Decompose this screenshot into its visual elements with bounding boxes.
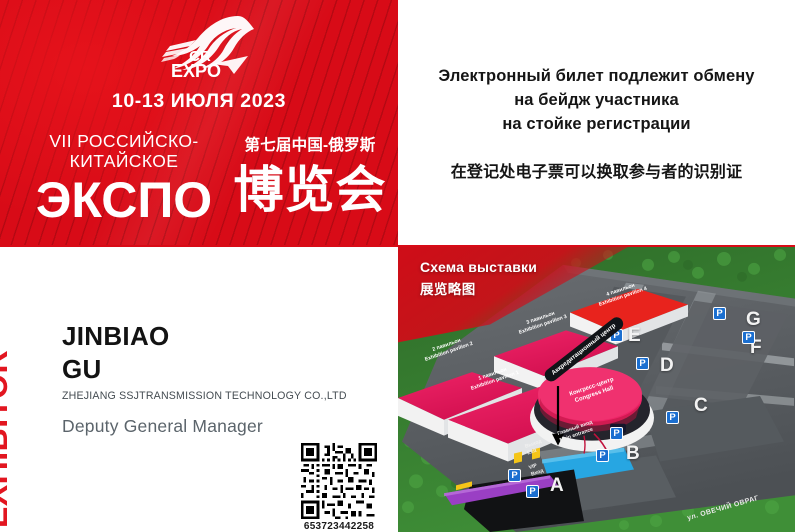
parking-sign-icon-8[interactable]: P — [508, 469, 521, 482]
notice-ru-line1: Электронный билет подлежит обмену — [438, 64, 754, 88]
title-ru-line1: VII РОССИЙСКО- — [18, 131, 230, 151]
parking-zone-C: C — [694, 395, 708, 417]
parking-sign-icon-7[interactable]: P — [596, 449, 609, 462]
parking-sign-icon-4[interactable]: P — [636, 357, 649, 370]
qr-number: 653723442258 — [296, 521, 382, 532]
e-ticket: CR EXPO 10-13 ИЮЛЯ 2023 VII РОССИЙСКО- К… — [0, 0, 795, 532]
attendee-first-name: JINBIAO — [62, 320, 170, 353]
parking-sign-icon-6[interactable]: P — [610, 427, 623, 440]
qr-code — [296, 443, 382, 519]
title-ru-big: ЭКСПО — [18, 173, 230, 227]
notice-ru-line2: на бейдж участника — [438, 88, 754, 112]
attendee-name: JINBIAO GU — [62, 320, 170, 386]
notice-ru-line3: на стойке регистрации — [438, 112, 754, 136]
exhibitor-badge-panel: EXHIBITOR JINBIAO GU ZHEJIANG SSJTRANSMI… — [0, 245, 398, 532]
notice-panel: Электронный билет подлежит обмену на бей… — [398, 0, 795, 245]
attendee-company: ZHEJIANG SSJTRANSMISSION TECHNOLOGY CO.,… — [62, 390, 347, 402]
parking-sign-icon-9[interactable]: P — [526, 485, 539, 498]
attendee-last-name: GU — [62, 353, 170, 386]
notice-chinese: 在登记处电子票可以换取参与者的识别证 — [451, 158, 743, 182]
parking-zone-D: D — [660, 355, 674, 377]
parking-sign-icon-5[interactable]: P — [666, 411, 679, 424]
map-heading-cn: 展览略图 — [420, 278, 537, 298]
title-cn-small: 第七届中国-俄罗斯 — [222, 136, 398, 156]
brand-panel: CR EXPO 10-13 ИЮЛЯ 2023 VII РОССИЙСКО- К… — [0, 0, 398, 245]
parking-zone-A: A — [550, 475, 564, 497]
notice-russian: Электронный билет подлежит обмену на бей… — [438, 64, 754, 136]
map-heading-ru: Схема выставки — [420, 259, 537, 275]
exhibitor-role-label: EXHIBITOR — [0, 350, 12, 528]
title-cn-big: 博览会 — [222, 162, 398, 218]
event-date: 10-13 ИЮЛЯ 2023 — [0, 90, 398, 113]
attendee-job-title: Deputy General Manager — [62, 416, 263, 437]
event-title-cn: 第七届中国-俄罗斯 博览会 — [222, 136, 398, 218]
venue-map-panel[interactable]: Схема выставки 展览略图 1 павильон Exhibitio… — [398, 245, 795, 532]
qr-block: 653723442258 — [296, 443, 382, 532]
title-ru-line2: КИТАЙСКОЕ — [18, 151, 230, 171]
parking-zone-G: G — [746, 309, 761, 331]
cr-expo-swoosh-logo: CR EXPO — [150, 12, 260, 84]
logo-text-expo: EXPO — [171, 61, 221, 81]
parking-sign-icon-3[interactable]: P — [742, 331, 755, 344]
parking-sign-icon-2[interactable]: P — [713, 307, 726, 320]
parking-zone-E: E — [628, 325, 641, 347]
map-heading: Схема выставки 展览略图 — [420, 259, 537, 298]
event-title-ru: VII РОССИЙСКО- КИТАЙСКОЕ ЭКСПО — [18, 131, 230, 227]
parking-zone-B: B — [626, 443, 640, 465]
